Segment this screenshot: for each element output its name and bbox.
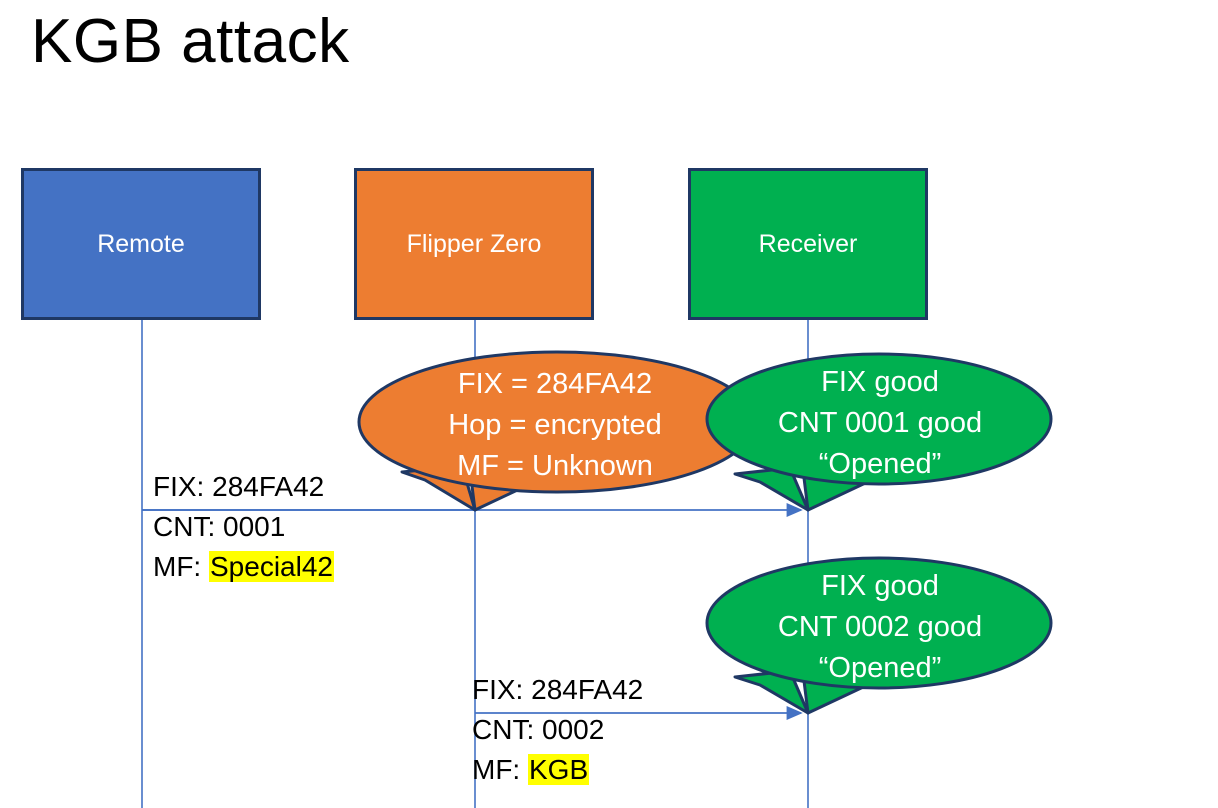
speech-bubble-flipper bbox=[359, 352, 755, 510]
actor-label-flipper: Flipper Zero bbox=[407, 230, 542, 259]
speech-bubble-receiver-2 bbox=[707, 558, 1051, 713]
message-2-mf-prefix: MF: bbox=[472, 754, 528, 785]
message-1-fix: FIX: 284FA42 bbox=[153, 467, 334, 507]
message-1-mf-prefix: MF: bbox=[153, 551, 209, 582]
actor-box-flipper[interactable]: Flipper Zero bbox=[354, 168, 594, 320]
message-2-mf-value: KGB bbox=[528, 754, 589, 785]
message-labels-1: FIX: 284FA42 CNT: 0001 MF: Special42 bbox=[153, 467, 334, 587]
message-2-fix: FIX: 284FA42 bbox=[472, 670, 643, 710]
actor-label-remote: Remote bbox=[97, 230, 185, 259]
message-1-cnt: CNT: 0001 bbox=[153, 507, 334, 547]
slide-canvas: KGB attack bbox=[0, 0, 1218, 808]
message-labels-2: FIX: 284FA42 CNT: 0002 MF: KGB bbox=[472, 670, 643, 790]
actor-label-receiver: Receiver bbox=[759, 230, 858, 259]
actor-box-remote[interactable]: Remote bbox=[21, 168, 261, 320]
speech-bubble-receiver-1 bbox=[707, 354, 1051, 510]
message-1-mf-value: Special42 bbox=[209, 551, 334, 582]
message-2-mf: MF: KGB bbox=[472, 750, 643, 790]
message-1-mf: MF: Special42 bbox=[153, 547, 334, 587]
actor-box-receiver[interactable]: Receiver bbox=[688, 168, 928, 320]
message-2-cnt: CNT: 0002 bbox=[472, 710, 643, 750]
